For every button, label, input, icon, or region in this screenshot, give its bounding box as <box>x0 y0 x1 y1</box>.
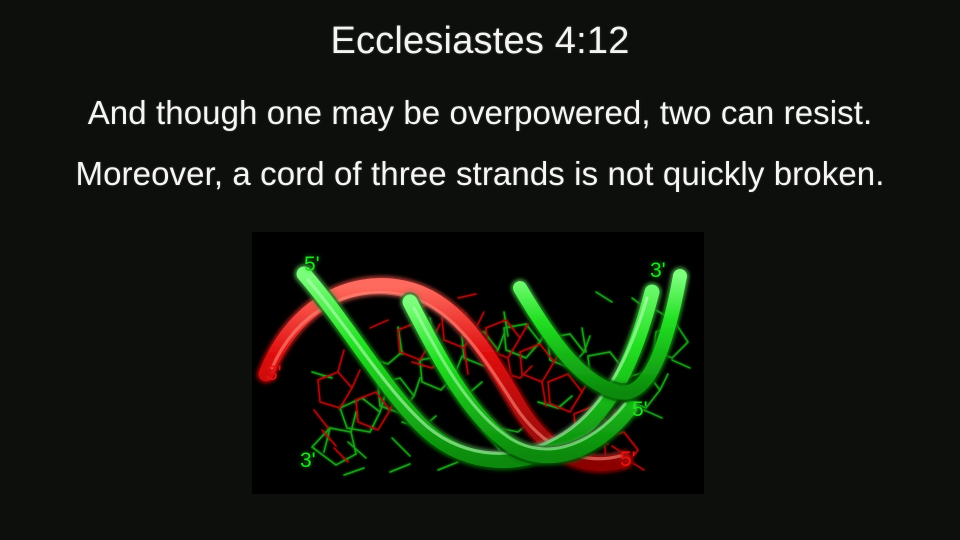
verse-line-1: And though one may be overpowered, two c… <box>0 96 960 129</box>
page-title: Ecclesiastes 4:12 <box>0 20 960 63</box>
slide-canvas: Ecclesiastes 4:12 And though one may be … <box>0 0 960 540</box>
label-5prime-green-right: 5' <box>632 399 648 420</box>
label-3prime-green-top-right: 3' <box>650 260 666 281</box>
label-5prime-red-bottom-right: 5' <box>620 449 636 470</box>
verse-text-block: And though one may be overpowered, two c… <box>0 96 960 218</box>
label-3prime-green-bottom-left: 3' <box>300 450 316 471</box>
dna-double-helix-image: 5' 3' 3' 5' 5' 3' <box>252 232 704 494</box>
label-3prime-red-left: 3' <box>266 363 282 384</box>
verse-line-2: Moreover, a cord of three strands is not… <box>0 157 960 190</box>
label-5prime-green-top-left: 5' <box>304 254 320 275</box>
